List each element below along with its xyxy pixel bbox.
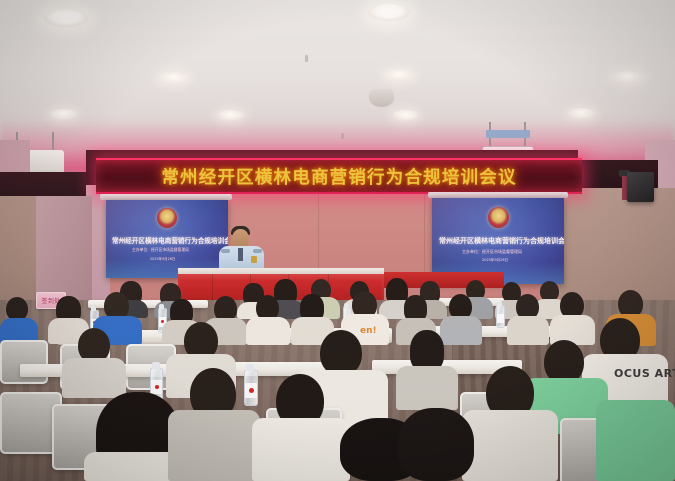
slide-date-left: 2025年9月26日	[150, 256, 175, 261]
downlight-9	[568, 108, 595, 119]
water-bottle-5	[244, 370, 258, 406]
ceiling-vent-2	[341, 133, 344, 139]
person-r4-3-torso	[252, 418, 350, 481]
person-r2-6-torso	[246, 317, 290, 345]
conference-room-photo: 常州经开区横林电商营销行为合规培训会议 常州经开区横林电商营销行为合规培训会议 …	[0, 0, 675, 481]
presenter-badge	[251, 256, 257, 263]
person-r4-2-torso	[168, 410, 260, 481]
projector-right-mount	[486, 130, 530, 138]
shirt-text-right: OCUS ARTS	[614, 367, 675, 380]
water-bottle-3-cap	[344, 303, 349, 308]
led-banner-text: 常州经开区横林电商营销行为合规培训会议	[161, 164, 516, 189]
led-banner: 常州经开区横林电商营销行为合规培训会议	[96, 158, 582, 194]
water-bottle-6-cap	[152, 362, 160, 369]
ceiling-speaker	[369, 89, 394, 107]
person-r2-11-torso	[507, 316, 549, 345]
downlight-2	[368, 4, 410, 21]
slide-title-left: 常州经开区横林电商营销行为合规培训会议	[112, 235, 228, 245]
header-band-left	[0, 172, 92, 198]
person-r2-10-torso	[440, 316, 482, 345]
police-emblem-icon-left	[157, 208, 177, 228]
person-r3-1-torso	[62, 358, 126, 398]
downlight-8	[392, 110, 419, 121]
presenter-epaulette-right	[253, 249, 262, 253]
water-bottle-4	[496, 305, 505, 328]
downlight-3	[158, 72, 190, 85]
slide-date-right: 2025年9月26日	[482, 258, 508, 263]
chair-r3-1[interactable]	[0, 340, 48, 384]
downlight-5	[612, 71, 644, 84]
presenter-tie	[238, 248, 243, 261]
slide-subtitle-right: 主办单位：经开区市场监督管理局	[462, 249, 522, 255]
wall-mounted-speaker	[627, 172, 654, 202]
downlight-4	[383, 69, 415, 82]
slide-subtitle-left: 主办单位：经开区市场监督管理局	[132, 247, 189, 253]
police-emblem-icon-right	[488, 207, 509, 228]
water-bottle-1-cap	[91, 306, 96, 311]
water-bottle-4-cap	[497, 301, 502, 306]
downlight-6	[50, 109, 77, 120]
downlight-7	[217, 110, 244, 121]
projection-screen-left: 常州经开区横林电商营销行为合规培训会议 主办单位：经开区市场监督管理局 2025…	[106, 200, 228, 278]
downlight-1	[44, 10, 88, 27]
person-r4-6-hair	[398, 408, 474, 481]
shirt-text-center: en!	[360, 326, 377, 336]
water-bottle-2-cap	[159, 304, 164, 309]
person-r4-5-torso	[462, 410, 558, 481]
ceiling-vent-1	[305, 55, 308, 62]
slide-title-right: 常州经开区横林电商营销行为合规培训会议	[439, 236, 564, 246]
water-bottle-5-cap	[246, 364, 254, 371]
presenter-epaulette-left	[221, 249, 230, 253]
person-r4-7-torso	[596, 400, 675, 481]
person-r3-4-torso	[396, 366, 458, 410]
